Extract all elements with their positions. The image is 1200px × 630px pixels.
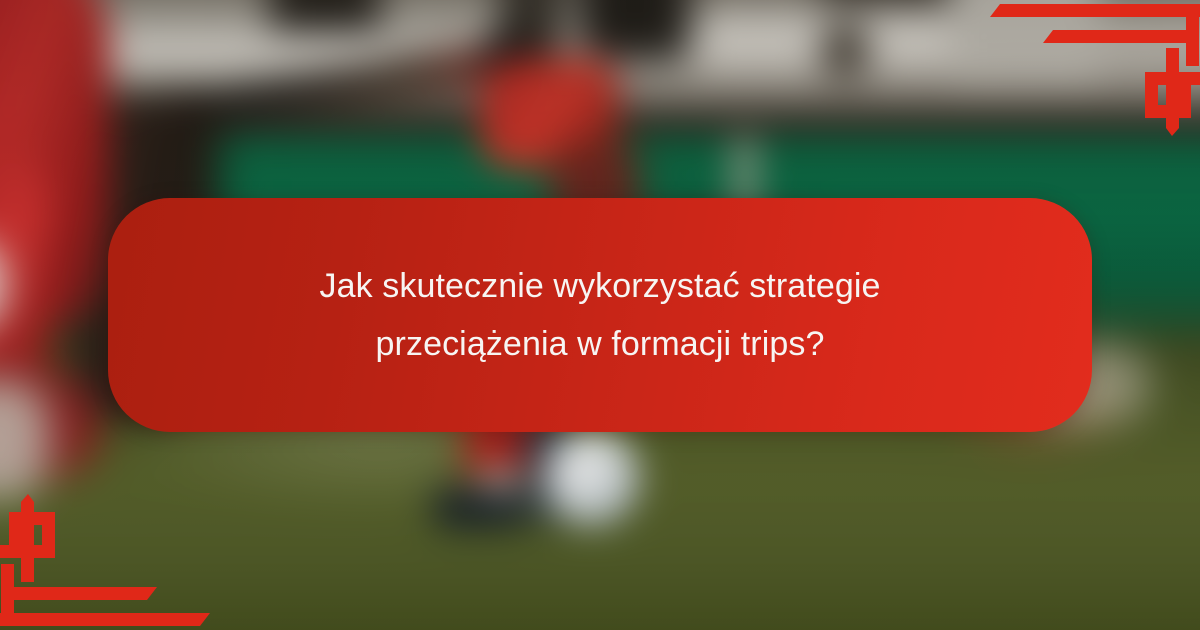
corner-ornament-bottom-left bbox=[0, 490, 210, 630]
headline-line-2: przeciążenia w formacji trips? bbox=[376, 325, 825, 363]
headline-line-1: Jak skutecznie wykorzystać strategie bbox=[319, 267, 880, 305]
headline-text: Jak skutecznie wykorzystać strategie prz… bbox=[319, 257, 880, 373]
corner-ornament-top-right bbox=[990, 0, 1200, 140]
headline-banner: Jak skutecznie wykorzystać strategie prz… bbox=[108, 198, 1092, 432]
banner-stage: Jak skutecznie wykorzystać strategie prz… bbox=[0, 0, 1200, 630]
